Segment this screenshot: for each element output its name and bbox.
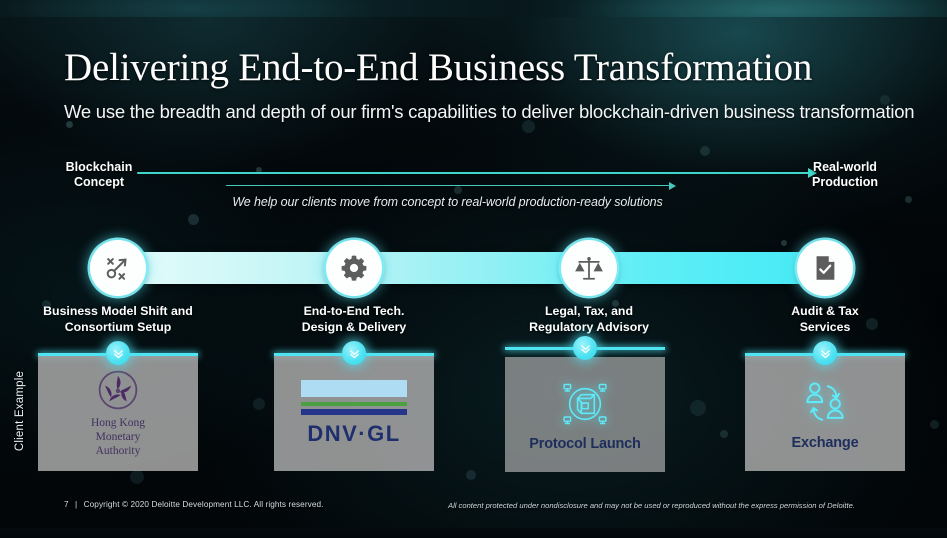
- page-subtitle: We use the breadth and depth of our firm…: [64, 101, 914, 123]
- footer-separator: |: [71, 500, 81, 509]
- step-2-label-line2: Design & Delivery: [249, 320, 459, 336]
- journey-start-label: Blockchain Concept: [34, 160, 164, 190]
- chevron-down-icon: [573, 336, 597, 360]
- dnvgl-logo: DNV·GL: [301, 380, 407, 447]
- gear-icon: [339, 253, 369, 283]
- step-2-circle: [326, 240, 382, 296]
- capability-step-band: Business Model Shift and Consortium Setu…: [0, 240, 947, 340]
- chevron-down-icon: [813, 341, 837, 365]
- footer-copyright: Copyright © 2020 Deloitte Development LL…: [84, 500, 324, 509]
- slide-footer: 7 | Copyright © 2020 Deloitte Developmen…: [0, 500, 947, 522]
- dnvgl-bar-light: [301, 380, 407, 397]
- exchange-people-icon: [799, 377, 851, 429]
- journey-end-label: Real-world Production: [780, 160, 910, 190]
- journey-sub-arrow-head-icon: [669, 182, 676, 190]
- dnvgl-bar-green: [301, 402, 407, 406]
- step-4-label-line2: Services: [720, 320, 930, 336]
- client-card-1[interactable]: Hong Kong Monetary Authority: [38, 353, 198, 471]
- client-card-1-panel: Hong Kong Monetary Authority: [38, 356, 198, 471]
- client-card-3-panel: Protocol Launch: [505, 357, 665, 472]
- client-card-2[interactable]: DNV·GL: [274, 353, 434, 471]
- step-1-label-line2: Consortium Setup: [13, 320, 223, 336]
- dnvgl-bar-navy: [301, 409, 407, 415]
- client-card-4[interactable]: Exchange: [745, 353, 905, 471]
- step-1-label-line1: Business Model Shift and: [13, 304, 223, 320]
- document-check-icon: [810, 253, 840, 283]
- hkma-name-line1: Hong Kong: [91, 416, 145, 430]
- step-1-label: Business Model Shift and Consortium Setu…: [13, 304, 223, 335]
- step-2-label: End-to-End Tech. Design & Delivery: [249, 304, 459, 335]
- scales-icon: [574, 253, 604, 283]
- step-node-2[interactable]: End-to-End Tech. Design & Delivery: [326, 240, 382, 296]
- footer-disclaimer: All content protected under nondisclosur…: [448, 501, 855, 510]
- client-card-3[interactable]: Protocol Launch: [505, 353, 665, 471]
- step-1-circle: [90, 240, 146, 296]
- step-3-circle: [561, 240, 617, 296]
- gradient-progress-bar: [118, 252, 825, 284]
- hkma-name: Hong Kong Monetary Authority: [91, 416, 145, 458]
- protocol-launch-caption: Protocol Launch: [529, 436, 640, 452]
- step-3-label: Legal, Tax, and Regulatory Advisory: [484, 304, 694, 335]
- step-4-circle: [797, 240, 853, 296]
- slide-canvas: Delivering End-to-End Business Transform…: [0, 0, 947, 538]
- hkma-logo: Hong Kong Monetary Authority: [91, 369, 145, 458]
- hkma-name-line3: Authority: [91, 444, 145, 458]
- dnvgl-wordmark: DNV·GL: [307, 421, 400, 447]
- footer-left: 7 | Copyright © 2020 Deloitte Developmen…: [64, 500, 324, 509]
- journey-end-label-line2: Production: [780, 175, 910, 190]
- hkma-name-line2: Monetary: [91, 430, 145, 444]
- client-card-4-panel: Exchange: [745, 356, 905, 471]
- page-title: Delivering End-to-End Business Transform…: [64, 48, 812, 89]
- chevron-down-icon: [106, 341, 130, 365]
- step-2-label-line1: End-to-End Tech.: [249, 304, 459, 320]
- chevron-down-icon: [342, 341, 366, 365]
- step-node-3[interactable]: Legal, Tax, and Regulatory Advisory: [561, 240, 617, 296]
- footer-page-number: 7: [64, 500, 69, 509]
- client-card-2-panel: DNV·GL: [274, 356, 434, 471]
- journey-sub-arrow-line: [226, 185, 669, 186]
- journey-arrow-band: Blockchain Concept We help our clients m…: [0, 155, 947, 213]
- hkma-bauhinia-icon: [97, 369, 139, 411]
- step-node-4[interactable]: Audit & Tax Services: [797, 240, 853, 296]
- journey-start-label-line2: Concept: [34, 175, 164, 190]
- journey-caption: We help our clients move from concept to…: [226, 195, 669, 209]
- step-3-label-line2: Regulatory Advisory: [484, 320, 694, 336]
- protocol-cube-icon: [559, 378, 611, 430]
- top-accent-band: [0, 0, 947, 17]
- step-node-1[interactable]: Business Model Shift and Consortium Setu…: [90, 240, 146, 296]
- exchange-caption: Exchange: [792, 435, 859, 451]
- step-3-label-line1: Legal, Tax, and: [484, 304, 694, 320]
- step-4-label: Audit & Tax Services: [720, 304, 930, 335]
- journey-main-arrow-line: [137, 172, 809, 174]
- bottom-strip: [0, 528, 947, 538]
- client-example-band: Client Example: [0, 345, 947, 480]
- exchange-logo: Exchange: [792, 377, 859, 451]
- protocol-launch-logo: Protocol Launch: [529, 378, 640, 452]
- step-4-label-line1: Audit & Tax: [720, 304, 930, 320]
- client-example-side-label: Client Example: [14, 361, 26, 461]
- journey-end-label-line1: Real-world: [780, 160, 910, 175]
- strategy-icon: [103, 253, 133, 283]
